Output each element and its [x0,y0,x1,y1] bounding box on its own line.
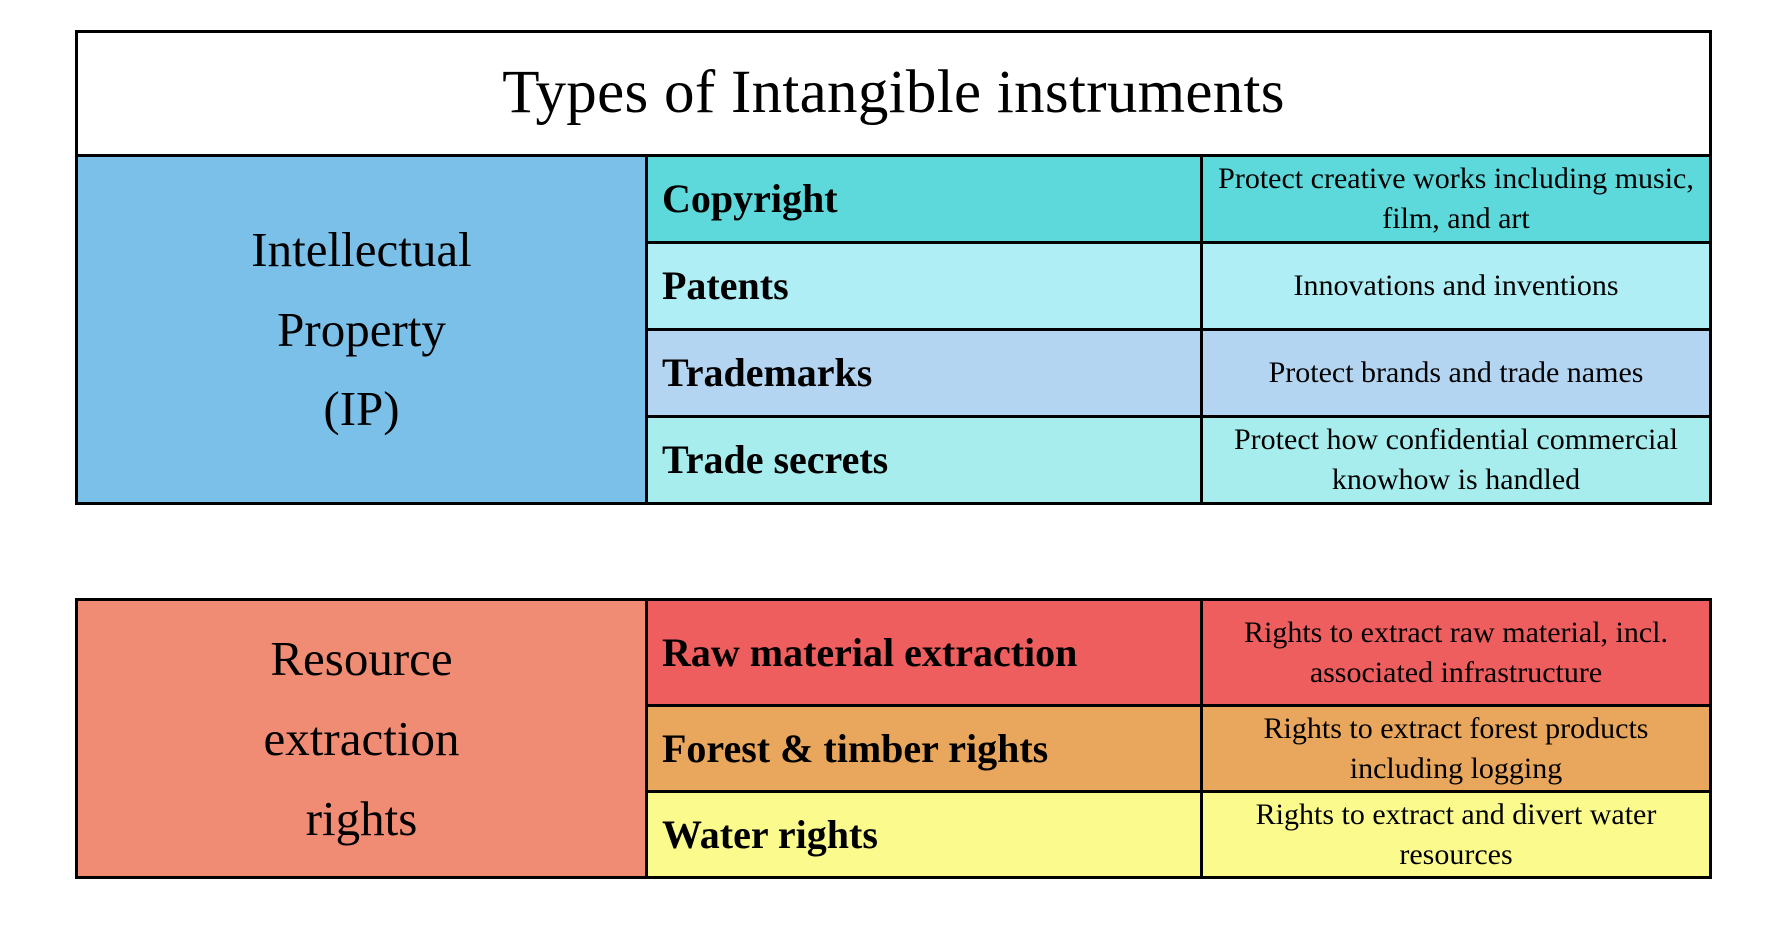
instrument-name-cell-raw-material-extraction: Raw material extraction [647,600,1202,706]
instrument-name-trade-secrets: Trade secrets [648,438,1200,482]
title-row: Types of Intangible instruments [77,32,1711,156]
instrument-desc-copyright: Protect creative works including music, … [1203,157,1709,240]
table-row: Intellectual Property (IP) Copyright Pro… [77,156,1711,243]
instrument-desc-cell-forest-timber-rights: Rights to extract forest products includ… [1202,706,1711,792]
category-label-resource-extraction-rights: Resource extraction rights [78,619,645,859]
instrument-desc-raw-material-extraction: Rights to extract raw material, incl. as… [1203,611,1709,694]
instrument-desc-trade-secrets: Protect how confidential commercial know… [1203,418,1709,501]
instrument-name-cell-copyright: Copyright [647,156,1202,243]
instrument-name-cell-forest-timber-rights: Forest & timber rights [647,706,1202,792]
category-cell-intellectual-property: Intellectual Property (IP) [77,156,647,504]
instrument-desc-cell-raw-material-extraction: Rights to extract raw material, incl. as… [1202,600,1711,706]
intellectual-property-table: Types of Intangible instruments Intellec… [75,30,1712,505]
instrument-name-copyright: Copyright [648,177,1200,221]
instrument-desc-trademarks: Protect brands and trade names [1203,351,1709,395]
table-row: Resource extraction rights Raw material … [77,600,1711,706]
instrument-name-cell-water-rights: Water rights [647,792,1202,878]
instrument-desc-water-rights: Rights to extract and divert water resou… [1203,793,1709,876]
instrument-desc-cell-copyright: Protect creative works including music, … [1202,156,1711,243]
instrument-desc-cell-water-rights: Rights to extract and divert water resou… [1202,792,1711,878]
category-cell-resource-extraction-rights: Resource extraction rights [77,600,647,878]
page-title: Types of Intangible instruments [78,61,1709,125]
diagram-page: Types of Intangible instruments Intellec… [0,0,1786,936]
instrument-name-cell-trademarks: Trademarks [647,330,1202,417]
instrument-name-forest-timber-rights: Forest & timber rights [648,727,1200,771]
instrument-name-raw-material-extraction: Raw material extraction [648,631,1200,675]
instrument-name-cell-trade-secrets: Trade secrets [647,417,1202,504]
instrument-desc-patents: Innovations and inventions [1203,264,1709,308]
instrument-name-cell-patents: Patents [647,243,1202,330]
instrument-desc-forest-timber-rights: Rights to extract forest products includ… [1203,707,1709,790]
instrument-name-water-rights: Water rights [648,813,1200,857]
instrument-desc-cell-patents: Innovations and inventions [1202,243,1711,330]
instrument-desc-cell-trade-secrets: Protect how confidential commercial know… [1202,417,1711,504]
instrument-name-trademarks: Trademarks [648,351,1200,395]
instrument-name-patents: Patents [648,264,1200,308]
instrument-desc-cell-trademarks: Protect brands and trade names [1202,330,1711,417]
resource-extraction-rights-table: Resource extraction rights Raw material … [75,598,1712,879]
category-label-intellectual-property: Intellectual Property (IP) [78,210,645,450]
title-cell: Types of Intangible instruments [77,32,1711,156]
